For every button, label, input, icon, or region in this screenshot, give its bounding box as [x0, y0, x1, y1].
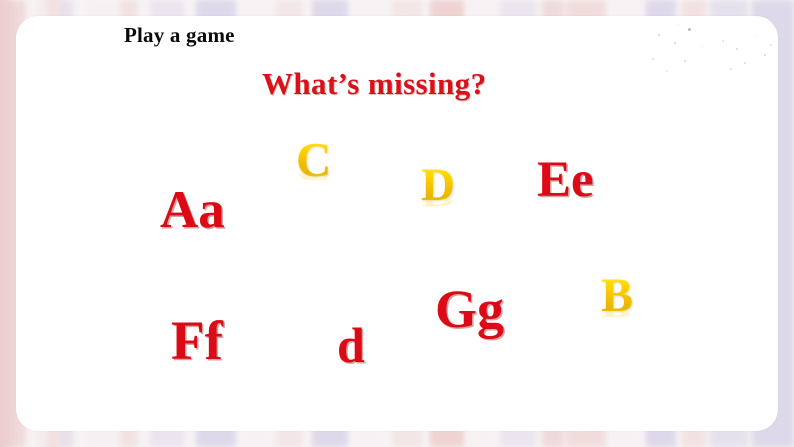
speck-dot-icon — [658, 34, 660, 36]
speck-dot-icon — [736, 48, 738, 50]
speck-dot-icon — [646, 44, 647, 45]
speck-dot-icon — [714, 26, 715, 27]
speck-dot-icon — [678, 24, 679, 25]
letter-ff[interactable]: Ff — [171, 313, 223, 368]
slide-canvas: Play a game What’s missing? CDEeAaBGgFfd — [0, 0, 794, 447]
letter-c[interactable]: C — [296, 135, 331, 184]
content-card: Play a game What’s missing? CDEeAaBGgFfd — [16, 16, 778, 431]
speck-dot-icon — [674, 42, 676, 44]
speck-dot-icon — [722, 40, 724, 42]
letter-ee[interactable]: Ee — [537, 155, 594, 206]
speck-dot-icon — [744, 62, 746, 64]
speckle-watermark-icon — [644, 18, 774, 78]
letter-gg[interactable]: Gg — [435, 282, 504, 336]
section-title: Play a game — [124, 23, 235, 48]
speck-dot-icon — [770, 44, 772, 46]
speck-dot-icon — [652, 58, 654, 60]
speck-dot-icon — [688, 28, 691, 31]
letter-d-lower[interactable]: d — [337, 320, 365, 370]
speck-dot-icon — [684, 60, 686, 62]
letter-aa[interactable]: Aa — [160, 184, 225, 237]
prompt-title: What’s missing? — [262, 66, 486, 102]
speck-dot-icon — [702, 46, 703, 47]
speck-dot-icon — [764, 54, 766, 56]
speck-dot-icon — [730, 68, 732, 70]
speck-dot-icon — [748, 30, 749, 31]
letter-d-upper[interactable]: D — [421, 162, 455, 209]
speck-dot-icon — [698, 70, 699, 71]
speck-dot-icon — [710, 54, 711, 55]
speck-dot-icon — [756, 36, 757, 37]
letter-b[interactable]: B — [601, 272, 633, 320]
speck-dot-icon — [666, 70, 668, 72]
